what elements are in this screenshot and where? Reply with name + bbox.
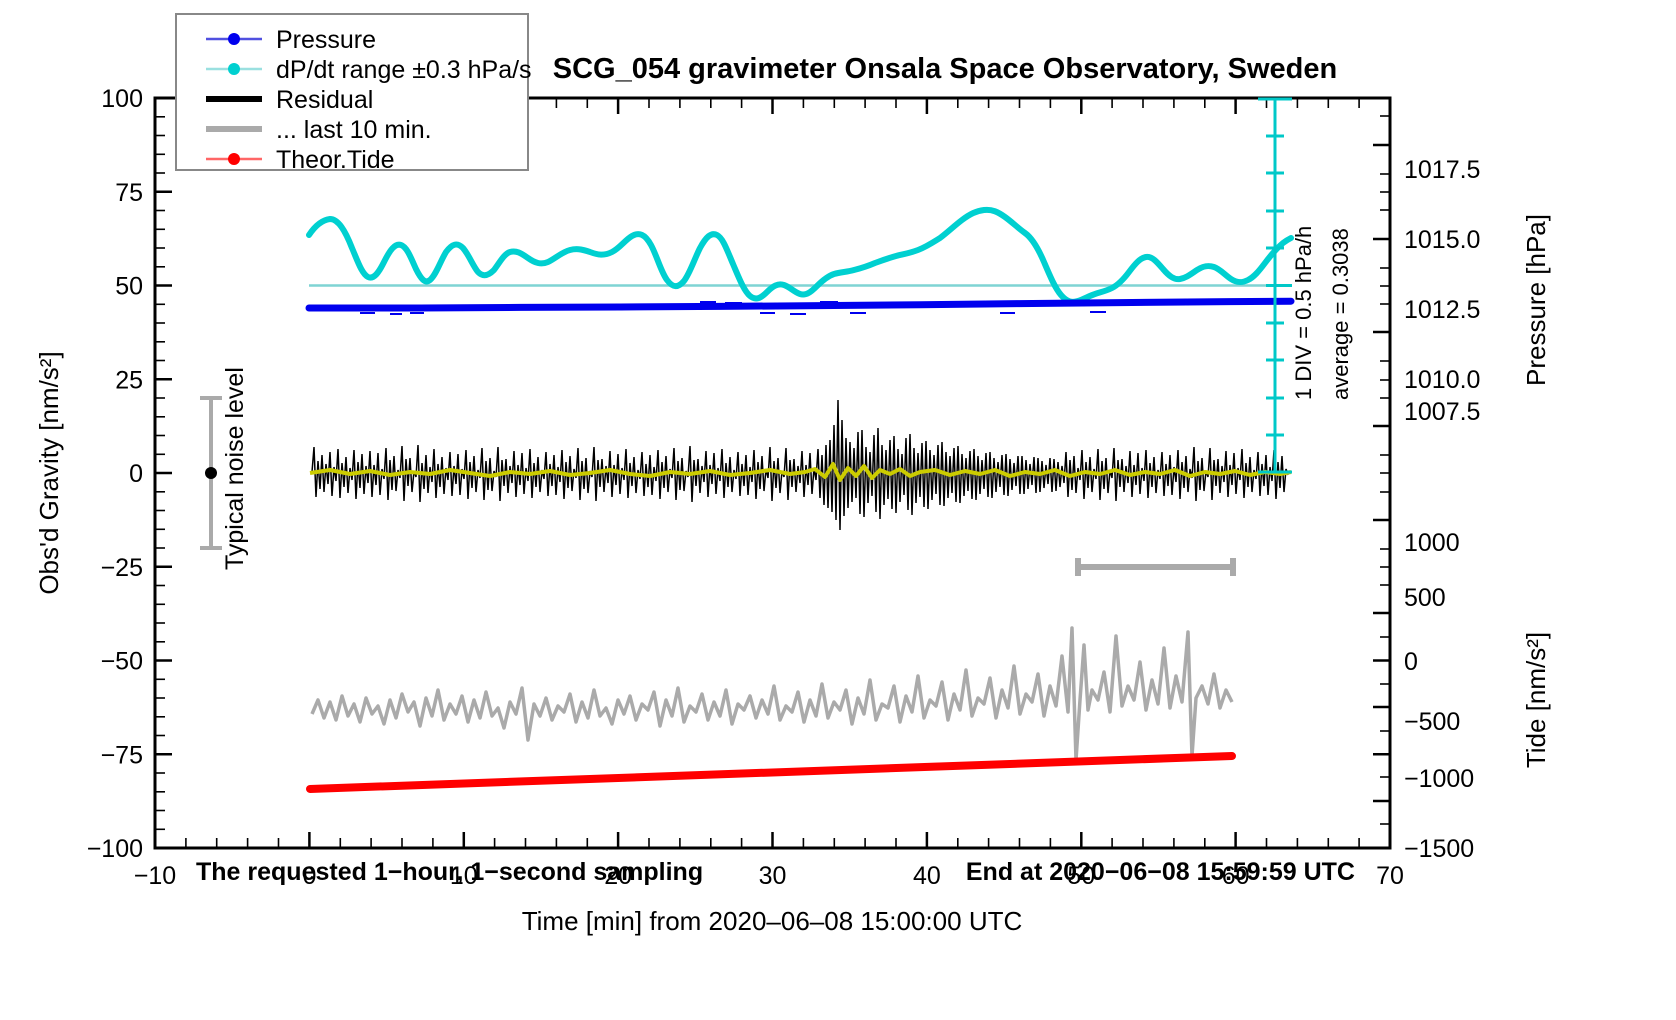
- y-tick-label: −100: [87, 835, 143, 863]
- legend-label: ... last 10 min.: [276, 116, 432, 144]
- pressure-tick-label: 1017.5: [1404, 156, 1480, 184]
- x-tick-label: 70: [1376, 862, 1404, 890]
- tide-tick-label: −500: [1404, 708, 1460, 736]
- legend: Pressure dP/dt range ±0.3 hPa/s Residual…: [176, 14, 532, 174]
- x-axis-title: Time [min] from 2020‒06‒08 15:00:00 UTC: [522, 906, 1023, 936]
- pressure-tick-label: 1012.5: [1404, 296, 1480, 324]
- bottom-right-note: End at 2020−06−08 15:59:59 UTC: [966, 858, 1355, 886]
- tide-tick-label: −1500: [1404, 835, 1474, 863]
- legend-label: dP/dt range ±0.3 hPa/s: [276, 56, 532, 84]
- y-tick-label: 50: [115, 273, 143, 301]
- y-tick-label: −50: [101, 648, 143, 676]
- y-tick-label: 0: [129, 460, 143, 488]
- bottom-left-note: The requested 1−hour, 1−second sampling: [196, 858, 703, 886]
- page-title: SCG_054 gravimeter Onsala Space Observat…: [553, 53, 1337, 85]
- tide-tick-label: 500: [1404, 584, 1446, 612]
- tide-tick-label: 0: [1404, 648, 1418, 676]
- y-tick-label: 75: [115, 179, 143, 207]
- x-tick-label: 40: [913, 862, 941, 890]
- y-tick-label: 25: [115, 366, 143, 394]
- legend-label: Pressure: [276, 26, 376, 54]
- legend-label: Theor.Tide: [276, 146, 395, 174]
- dpdt-average-label: average = 0.3038: [1328, 228, 1353, 400]
- gravimeter-monitor-chart: −10 0 10 20 30 40 50 60 70 Time [min] fr…: [0, 0, 1676, 1020]
- pressure-tick-label: 1007.5: [1404, 398, 1480, 426]
- right-axis-title-pressure: Pressure [hPa]: [1521, 214, 1551, 386]
- div-scale-label: 1 DIV = 0.5 hPa/h: [1291, 226, 1316, 400]
- x-tick-label: 30: [759, 862, 787, 890]
- y-tick-label: −75: [101, 741, 143, 769]
- typical-noise-level-label: Typical noise level: [221, 367, 249, 570]
- pressure-tick-label: 1015.0: [1404, 226, 1480, 254]
- y-axis-title: Obs'd Gravity [nm/s²]: [34, 351, 64, 594]
- tide-tick-label: 1000: [1404, 529, 1460, 557]
- right-axis-title-tide: Tide [nm/s²]: [1521, 632, 1551, 768]
- pressure-tick-label: 1010.0: [1404, 366, 1480, 394]
- y-tick-label: 100: [101, 85, 143, 113]
- legend-label: Residual: [276, 86, 373, 114]
- x-tick-label: −10: [134, 862, 176, 890]
- y-tick-label: −25: [101, 554, 143, 582]
- tide-tick-label: −1000: [1404, 765, 1474, 793]
